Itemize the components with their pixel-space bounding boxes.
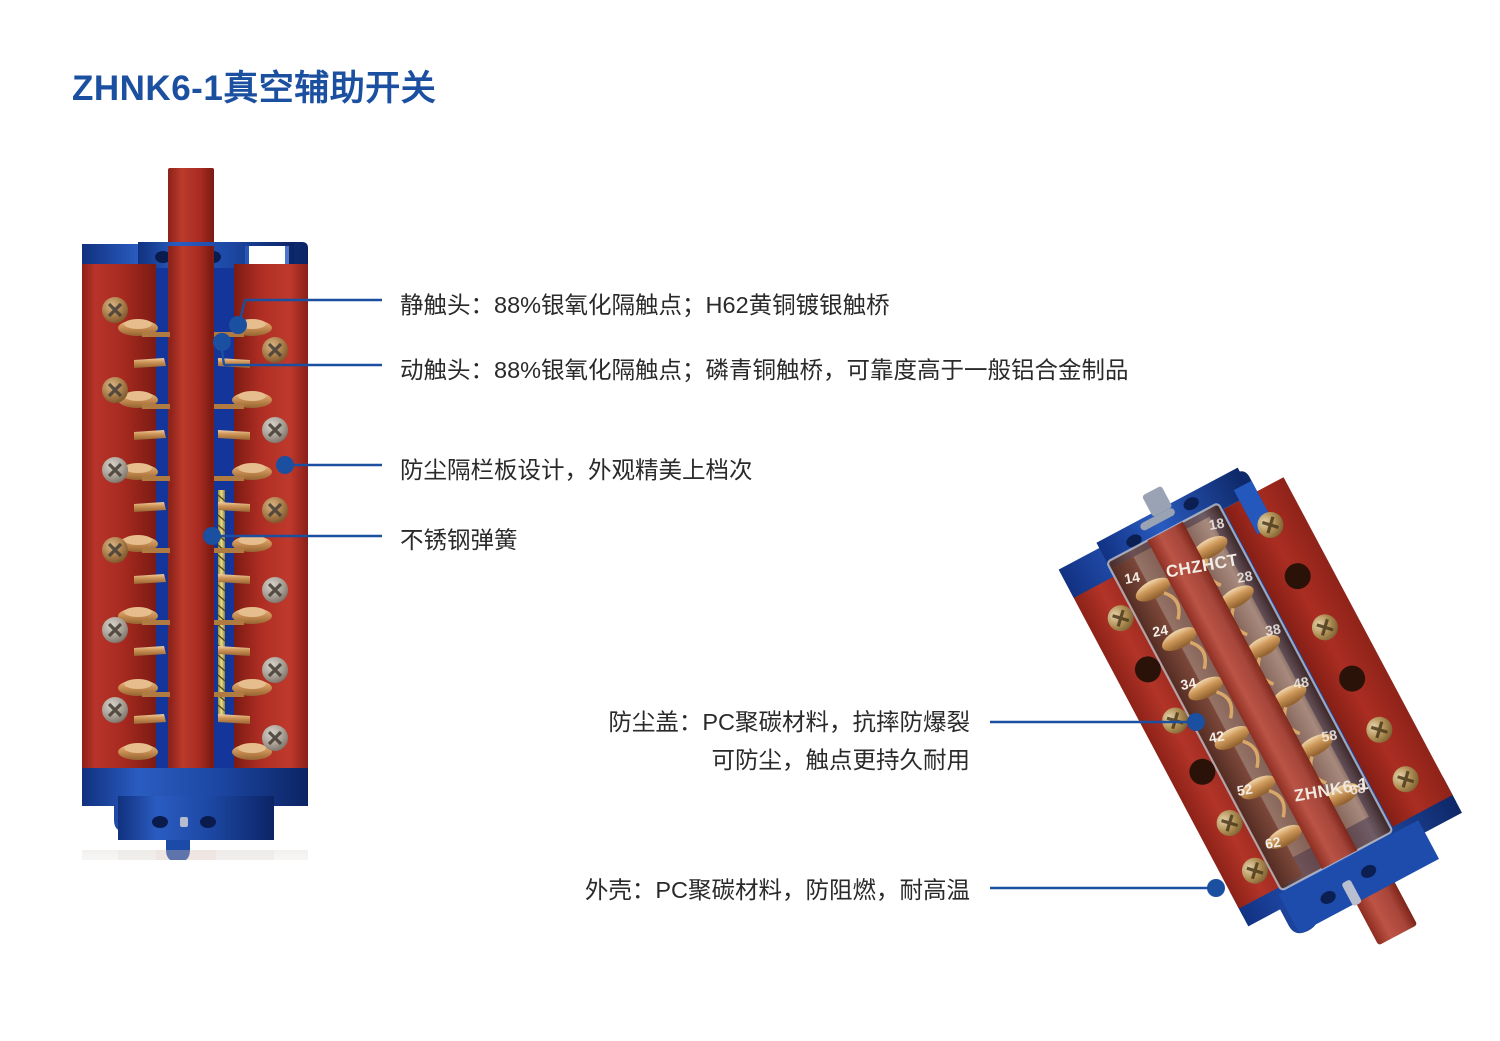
callout-label-dust-cover-line1: 防尘盖：PC聚碳材料，抗摔防爆裂 [460,703,970,741]
svg-text:24: 24 [1151,621,1169,639]
svg-text:34: 34 [1179,674,1197,692]
svg-text:14: 14 [1123,569,1141,587]
svg-text:42: 42 [1207,727,1225,745]
callout-label-dust-cover-line2: 可防尘，触点更持久耐用 [460,741,970,779]
right-product-photo: CHZHCT ZHNK6-1 14 24 34 42 52 62 18 28 3… [1040,400,1490,1000]
surface-reflection [82,850,308,860]
callout-label-stainless-spring: 不锈钢弹簧 [400,521,518,559]
svg-text:52: 52 [1236,780,1254,798]
product-diagram-page: ZHNK6-1真空辅助开关 [0,0,1500,1041]
svg-text:62: 62 [1264,833,1282,851]
base-center-slot [180,817,188,827]
callout-label-static-contact: 静触头：88%银氧化隔触点；H62黄铜镀银触桥 [400,286,890,324]
svg-text:58: 58 [1320,726,1338,744]
svg-text:18: 18 [1207,515,1225,533]
svg-text:68: 68 [1348,779,1366,797]
svg-text:38: 38 [1264,620,1282,638]
svg-text:48: 48 [1292,673,1310,691]
callout-label-dust-cover: 防尘盖：PC聚碳材料，抗摔防爆裂 可防尘，触点更持久耐用 [460,703,970,779]
callout-label-moving-contact: 动触头：88%银氧化隔触点；磷青铜触桥，可靠度高于一般铝合金制品 [400,351,1129,389]
actuator-rod [168,168,214,246]
left-product-photo [60,160,330,860]
svg-text:28: 28 [1236,567,1254,585]
base-hole-right [200,816,216,828]
callout-label-housing: 外壳：PC聚碳材料，防阻燃，耐高温 [460,871,970,909]
callout-label-dust-barrier: 防尘隔栏板设计，外观精美上档次 [400,451,753,489]
page-title: ZHNK6-1真空辅助开关 [72,60,436,111]
base-hole-left [152,816,168,828]
